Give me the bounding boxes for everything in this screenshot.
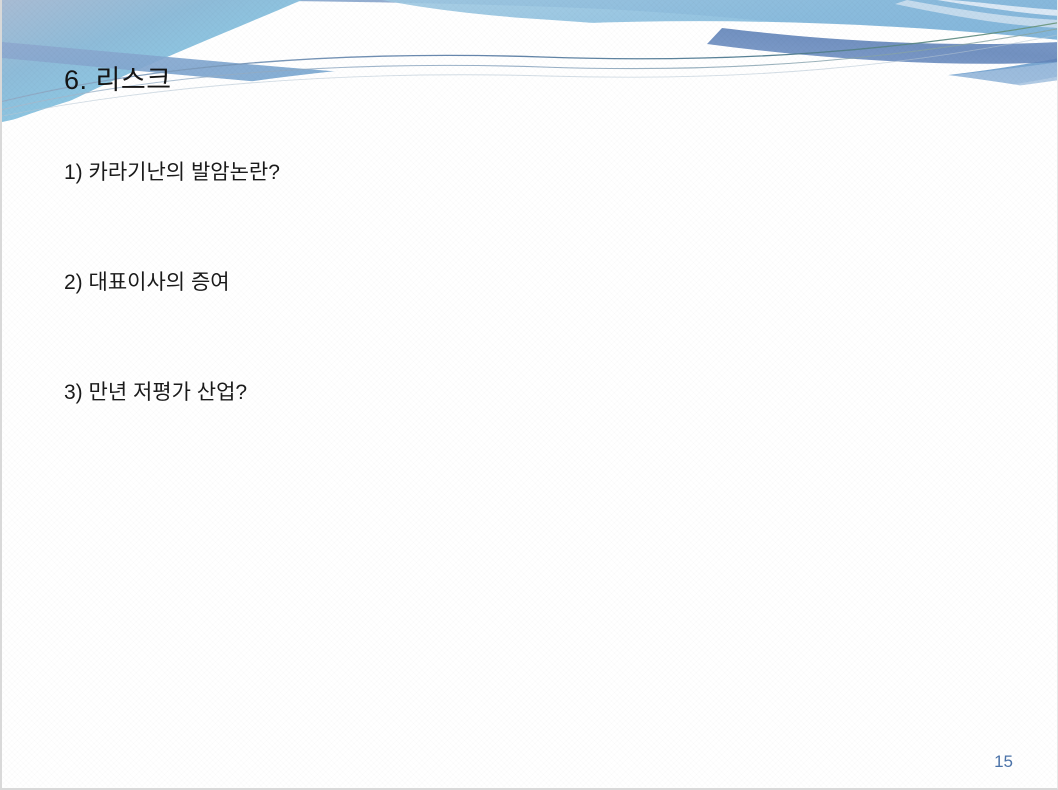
slide-title: 6. 리스크 xyxy=(64,66,172,96)
list-item: 1) 카라기난의 발암논란? xyxy=(64,160,964,270)
page-title: 6. 리스크 xyxy=(64,66,172,96)
bullet-label-1: 1) 카라기난의 발암논란? xyxy=(64,160,964,185)
list-item: 2) 대표이사의 증여 xyxy=(64,270,964,380)
page-number: 15 xyxy=(994,752,1013,772)
bullet-list: 1) 카라기난의 발암논란? 2) 대표이사의 증여 3) 만년 저평가 산업? xyxy=(64,160,964,490)
bullet-label-2: 2) 대표이사의 증여 xyxy=(64,270,964,295)
slide-canvas: 6. 리스크 1) 카라기난의 발암논란? 2) 대표이사의 증여 3) 만년 … xyxy=(0,0,1058,790)
list-item: 3) 만년 저평가 산업? xyxy=(64,380,964,490)
bullet-label-3: 3) 만년 저평가 산업? xyxy=(64,380,964,405)
